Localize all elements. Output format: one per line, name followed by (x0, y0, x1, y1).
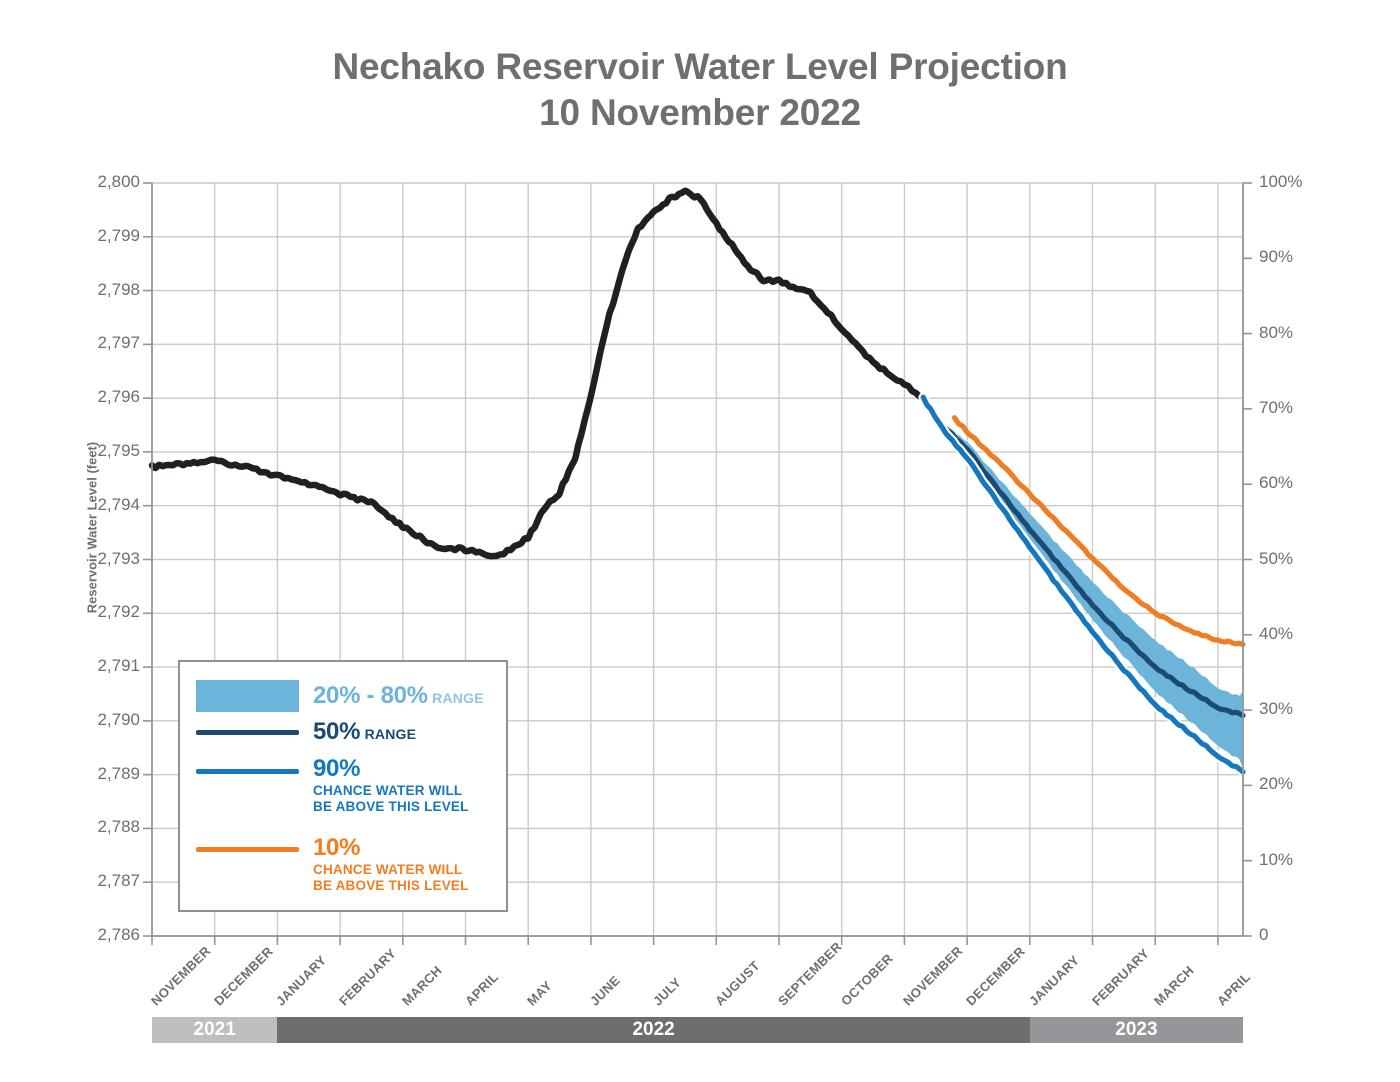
y-axis-tick-2794: 2,794 (48, 495, 140, 515)
legend-entry-p90: 90% CHANCE WATER WILL BE ABOVE THIS LEVE… (313, 755, 469, 815)
year-timeline-bar: 202120222023 (152, 1017, 1243, 1043)
y-axis-right-tick-40pct: 40% (1259, 624, 1339, 644)
legend-swatch-p10 (196, 847, 299, 852)
y-axis-tick-2798: 2,798 (48, 280, 140, 300)
y-axis-tick-2799: 2,799 (48, 226, 140, 246)
y-axis-right-tick-30pct: 30% (1259, 699, 1339, 719)
legend-swatch-band (196, 680, 299, 712)
y-axis-tick-2795: 2,795 (48, 441, 140, 461)
legend-swatch-median (196, 730, 299, 735)
y-axis-right-tick-50pct: 50% (1259, 549, 1339, 569)
y-axis-tick-2790: 2,790 (48, 710, 140, 730)
legend-swatch-p90 (196, 769, 299, 774)
y-axis-tick-2791: 2,791 (48, 656, 140, 676)
legend-p90-sub1: CHANCE WATER WILL (313, 783, 469, 799)
y-axis-tick-2789: 2,789 (48, 764, 140, 784)
y-axis-tick-2788: 2,788 (48, 817, 140, 837)
legend-p10-value: 10% (313, 834, 469, 862)
y-axis-tick-2792: 2,792 (48, 602, 140, 622)
year-segment-2021: 2021 (152, 1017, 277, 1043)
y-axis-right-tick-90pct: 90% (1259, 247, 1339, 267)
y-axis-right-tick-20pct: 20% (1259, 774, 1339, 794)
year-segment-2022: 2022 (277, 1017, 1029, 1043)
chart-legend: 20% - 80% RANGE 50% RANGE 90% CHANCE WAT… (178, 660, 508, 912)
legend-entry-band: 20% - 80% RANGE (313, 682, 484, 710)
y-axis-right-tick-70pct: 70% (1259, 398, 1339, 418)
legend-p10-sub1: CHANCE WATER WILL (313, 862, 469, 878)
legend-p90-value: 90% (313, 755, 469, 783)
y-axis-right-tick-10pct: 10% (1259, 850, 1339, 870)
y-axis-right-tick-80pct: 80% (1259, 323, 1339, 343)
legend-band-suffix: RANGE (432, 690, 484, 706)
y-axis-tick-2796: 2,796 (48, 387, 140, 407)
legend-band-value: 20% - 80% (313, 682, 428, 709)
legend-median-value: 50% (313, 718, 360, 745)
y-axis-right-tick-0: 0 (1259, 925, 1339, 945)
y-axis-right-tick-100pct: 100% (1259, 172, 1339, 192)
y-axis-right-tick-60pct: 60% (1259, 473, 1339, 493)
legend-entry-median: 50% RANGE (313, 718, 416, 746)
y-axis-tick-2800: 2,800 (48, 172, 140, 192)
reservoir-projection-chart (0, 0, 1400, 1082)
legend-median-suffix: RANGE (365, 726, 417, 742)
y-axis-tick-2786: 2,786 (48, 925, 140, 945)
legend-entry-p10: 10% CHANCE WATER WILL BE ABOVE THIS LEVE… (313, 834, 469, 894)
legend-p10-sub2: BE ABOVE THIS LEVEL (313, 878, 469, 894)
legend-p90-sub2: BE ABOVE THIS LEVEL (313, 799, 469, 815)
y-axis-tick-2797: 2,797 (48, 333, 140, 353)
year-segment-2023: 2023 (1030, 1017, 1243, 1043)
y-axis-tick-2787: 2,787 (48, 871, 140, 891)
y-axis-tick-2793: 2,793 (48, 549, 140, 569)
